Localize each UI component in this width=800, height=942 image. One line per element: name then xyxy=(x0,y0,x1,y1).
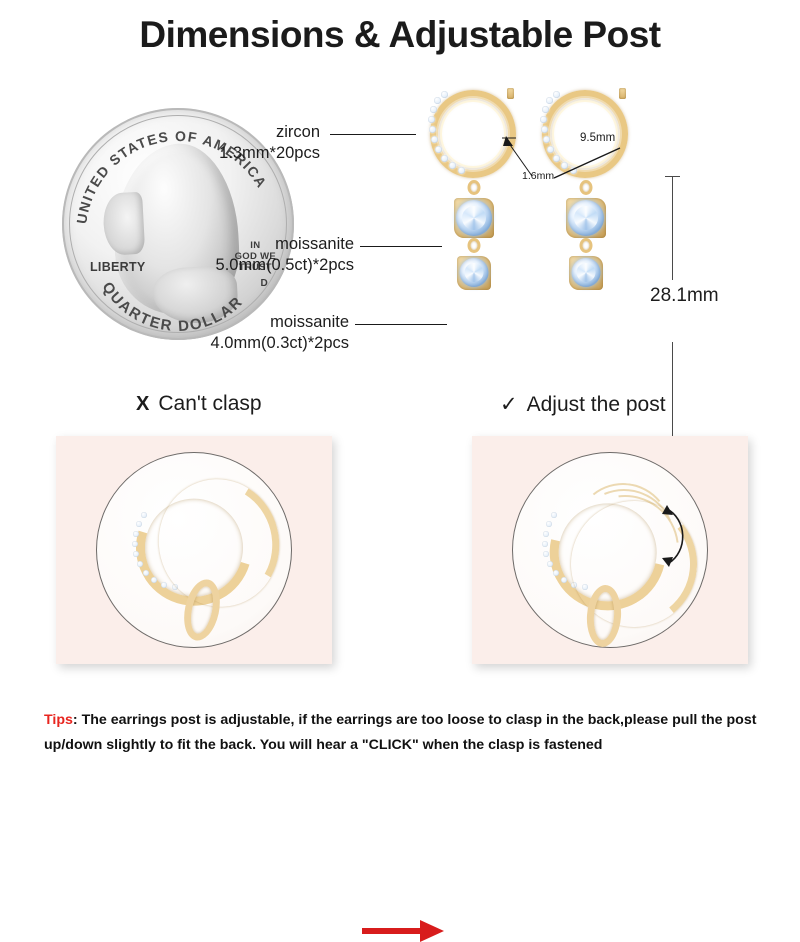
moissanite-left-small xyxy=(460,258,489,287)
link-left-2 xyxy=(468,238,481,253)
coin-liberty-text: LIBERTY xyxy=(90,260,146,274)
callout-zircon: zircon 1.3mm*20pcs xyxy=(190,122,320,164)
earring-pair-image xyxy=(420,80,650,370)
process-arrow-icon xyxy=(362,920,448,942)
callout-zircon-material: zircon xyxy=(190,122,320,142)
dimensions-section: UNITED STATES OF AMERICA QUARTER DOLLAR … xyxy=(0,78,800,368)
tips-note: Tips: The earrings post is adjustable, i… xyxy=(44,708,762,758)
callout-zircon-detail: 1.3mm*20pcs xyxy=(190,142,320,164)
photo-disc-left xyxy=(96,452,292,648)
callout-moissanite-small-material: moissanite xyxy=(165,312,349,332)
leader-line-moissanite-large xyxy=(360,246,442,247)
tips-body: : The earrings post is adjustable, if th… xyxy=(44,712,756,753)
moissanite-left-large xyxy=(456,200,492,236)
leader-line-moissanite-small xyxy=(355,324,447,325)
callout-moissanite-large: moissanite 5.0mm(0.5ct)*2pcs xyxy=(170,234,354,276)
cant-clasp-heading: X Can't clasp xyxy=(136,392,262,416)
total-length-label: 28.1mm xyxy=(650,285,719,307)
tips-keyword: Tips xyxy=(44,712,73,728)
clasp-comparison-section: X Can't clasp ✓ Adjust the post xyxy=(0,392,800,682)
coin-mint-mark: D xyxy=(260,278,268,289)
callout-moissanite-large-detail: 5.0mm(0.5ct)*2pcs xyxy=(170,254,354,276)
hoop-diameter-leader xyxy=(548,140,632,184)
link-right-2 xyxy=(580,238,593,253)
leader-line-zircon xyxy=(330,134,416,135)
adjust-post-label: Adjust the post xyxy=(527,393,666,417)
callout-moissanite-small-detail: 4.0mm(0.3ct)*2pcs xyxy=(165,332,349,354)
link-left-1 xyxy=(468,180,481,195)
photo-disc-right xyxy=(512,452,708,648)
hoop-left-hinge xyxy=(507,88,514,99)
earring-left xyxy=(420,80,528,370)
photo-panel-adjust-post xyxy=(472,436,748,664)
x-mark-icon: X xyxy=(136,393,149,416)
moissanite-right-small xyxy=(572,258,601,287)
check-mark-icon: ✓ xyxy=(500,392,518,417)
photo-panel-cant-clasp xyxy=(56,436,332,664)
hoop-right-hinge xyxy=(619,88,626,99)
adjust-post-heading: ✓ Adjust the post xyxy=(500,392,666,417)
hoop-thickness-leader xyxy=(496,128,556,180)
rotation-arrow-icon xyxy=(653,499,693,575)
page-title: Dimensions & Adjustable Post xyxy=(0,14,800,56)
callout-moissanite-small: moissanite 4.0mm(0.3ct)*2pcs xyxy=(165,312,349,354)
earring-right xyxy=(532,80,640,370)
moissanite-right-large xyxy=(568,200,604,236)
callout-moissanite-large-material: moissanite xyxy=(170,234,354,254)
cant-clasp-label: Can't clasp xyxy=(158,392,261,416)
